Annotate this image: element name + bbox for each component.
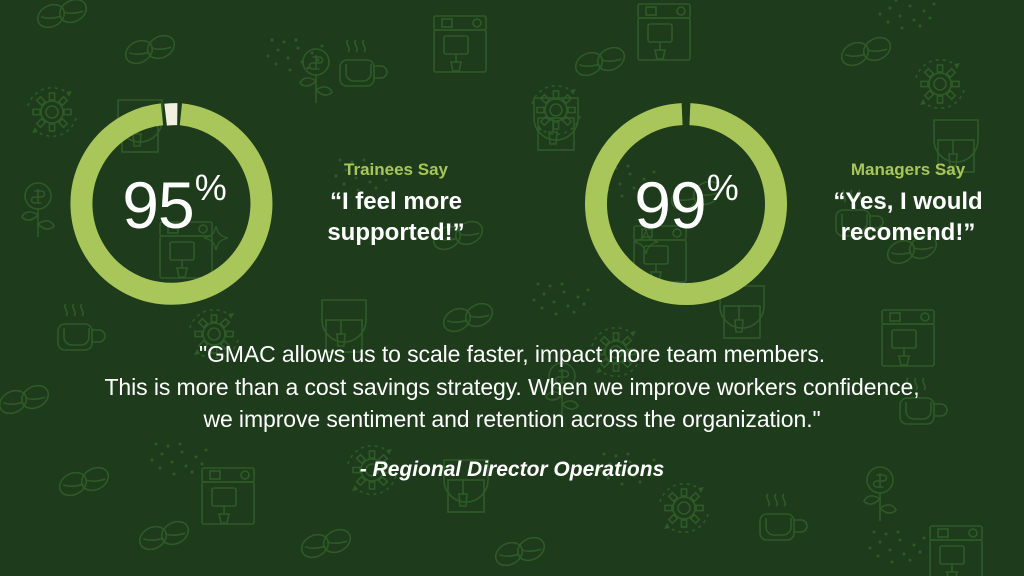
testimonial-block: "GMAC allows us to scale faster, impact … xyxy=(0,338,1024,482)
donut-value-managers: 99 xyxy=(634,172,705,238)
donut-center-label-trainees: 95 % xyxy=(68,98,280,310)
testimonial-quote: "GMAC allows us to scale faster, impact … xyxy=(0,338,1024,436)
percent-sign-trainees: % xyxy=(195,170,227,206)
stat-block-managers: 99 % Managers Say “Yes, I would recomend… xyxy=(512,96,1024,312)
donut-center-label-managers: 99 % xyxy=(580,98,792,310)
testimonial-author: - Regional Director Operations xyxy=(0,458,1024,482)
stat-kicker-trainees: Trainees Say xyxy=(290,159,502,182)
testimonial-line-1: "GMAC allows us to scale faster, impact … xyxy=(40,338,984,371)
stat-quote-line1: “I feel more xyxy=(330,188,462,215)
stat-quote-line2: recomend!” xyxy=(841,219,976,246)
stat-quote-trainees: “I feel more supported!” xyxy=(290,187,502,248)
stat-quote-managers: “Yes, I would recomend!” xyxy=(802,187,1014,248)
stat-quote-line1: “Yes, I would xyxy=(833,188,982,215)
stat-quote-line2: supported!” xyxy=(327,219,464,246)
percent-sign-managers: % xyxy=(707,170,739,206)
slide-canvas: 95 % Trainees Say “I feel more supported… xyxy=(0,0,1024,576)
stat-text-trainees: Trainees Say “I feel more supported!” xyxy=(290,159,502,248)
donut-chart-managers: 99 % xyxy=(580,98,792,310)
stat-kicker-managers: Managers Say xyxy=(802,159,1014,182)
stat-text-managers: Managers Say “Yes, I would recomend!” xyxy=(802,159,1014,248)
testimonial-line-3: we improve sentiment and retention acros… xyxy=(40,403,984,436)
donut-chart-trainees: 95 % xyxy=(68,98,280,310)
testimonial-line-2: This is more than a cost savings strateg… xyxy=(40,371,984,404)
stats-row: 95 % Trainees Say “I feel more supported… xyxy=(0,96,1024,312)
stat-block-trainees: 95 % Trainees Say “I feel more supported… xyxy=(0,96,512,312)
donut-value-trainees: 95 xyxy=(122,172,193,238)
